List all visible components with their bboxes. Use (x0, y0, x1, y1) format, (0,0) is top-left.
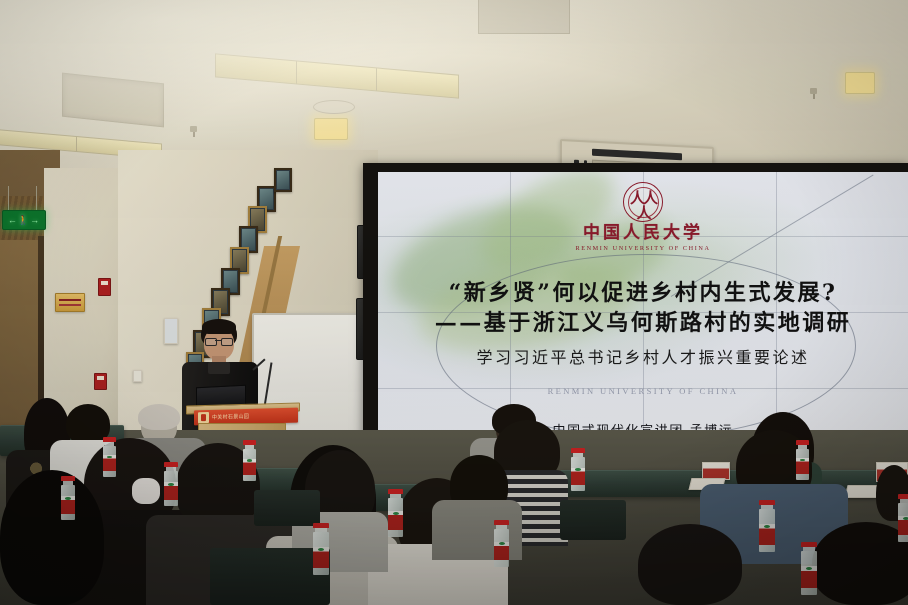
slide-title-line1: “新乡贤”何以促进乡村内生式发展? (378, 280, 908, 308)
emblem-glyph: 人人人 (624, 192, 662, 222)
wall-switch (133, 370, 142, 382)
institution-name-en: RENMIN UNIVERSITY OF CHINA (378, 245, 908, 252)
ceiling-strip-light-1 (215, 53, 459, 98)
presentation-screen[interactable]: 人人人 中国人民大学 RENMIN UNIVERSITY OF CHINA “新… (378, 172, 908, 468)
slide-watermark: RENMIN UNIVERSITY OF CHINA (378, 386, 908, 396)
exit-sign-hanger (8, 186, 9, 210)
slide-logo: 人人人 中国人民大学 RENMIN UNIVERSITY OF CHINA (378, 182, 908, 252)
podium-banner-emblem-icon (198, 412, 209, 423)
chair-back (560, 500, 626, 540)
water-bottle (801, 542, 817, 595)
presenter-glasses (221, 338, 233, 346)
hair (812, 522, 908, 605)
slide-title-block: “新乡贤”何以促进乡村内生式发展? ——基于浙江义乌何斯路村的实地调研 学习习近… (378, 280, 908, 368)
slide-subtitle: 学习习近平总书记乡村人才振兴重要论述 (378, 344, 908, 368)
water-bottle (388, 489, 403, 537)
presenter-collar (208, 362, 230, 374)
water-bottle (61, 476, 75, 520)
hair (638, 524, 742, 605)
exit-sign: ←🚶→ (2, 210, 46, 230)
water-bottle (796, 440, 809, 480)
chair-back (210, 548, 330, 605)
fire-alarm-pull[interactable] (94, 373, 107, 390)
ceiling-speaker-icon (313, 100, 355, 114)
hair-grey (138, 404, 180, 430)
sprinkler-icon (810, 88, 817, 94)
ceiling-duct-box (478, 0, 570, 34)
wall-plaque (55, 293, 85, 312)
fire-alarm-pull[interactable] (98, 278, 111, 296)
exit-sign-hanger (36, 186, 37, 210)
sprinkler-icon (190, 126, 197, 132)
presenter-glasses-bridge (215, 340, 221, 341)
face-mask (132, 478, 160, 504)
ceiling-vent-left (62, 73, 164, 128)
podium-banner-text: 中关村石景山园 (212, 413, 249, 421)
renmin-emblem-icon: 人人人 (623, 182, 663, 222)
wall-frame (274, 168, 292, 192)
water-bottle (164, 462, 178, 506)
lecture-hall-photo: ←🚶→ (0, 0, 908, 605)
water-bottle (759, 500, 775, 552)
water-bottle (571, 448, 585, 491)
chair-back (254, 490, 320, 526)
wall-notice (164, 318, 178, 344)
downlight-icon (845, 72, 875, 94)
downlight-icon (314, 118, 348, 140)
slide-title-line2: ——基于浙江义乌何斯路村的实地调研 (378, 309, 908, 338)
water-bottle (898, 494, 908, 542)
water-bottle (494, 520, 509, 567)
water-bottle (103, 437, 116, 477)
water-bottle (313, 523, 329, 575)
hair (0, 470, 104, 605)
institution-name-cn: 中国人民大学 (378, 224, 908, 243)
water-bottle (243, 440, 256, 481)
running-man-icon: ←🚶→ (8, 216, 40, 225)
presenter-hair-top (202, 319, 236, 334)
